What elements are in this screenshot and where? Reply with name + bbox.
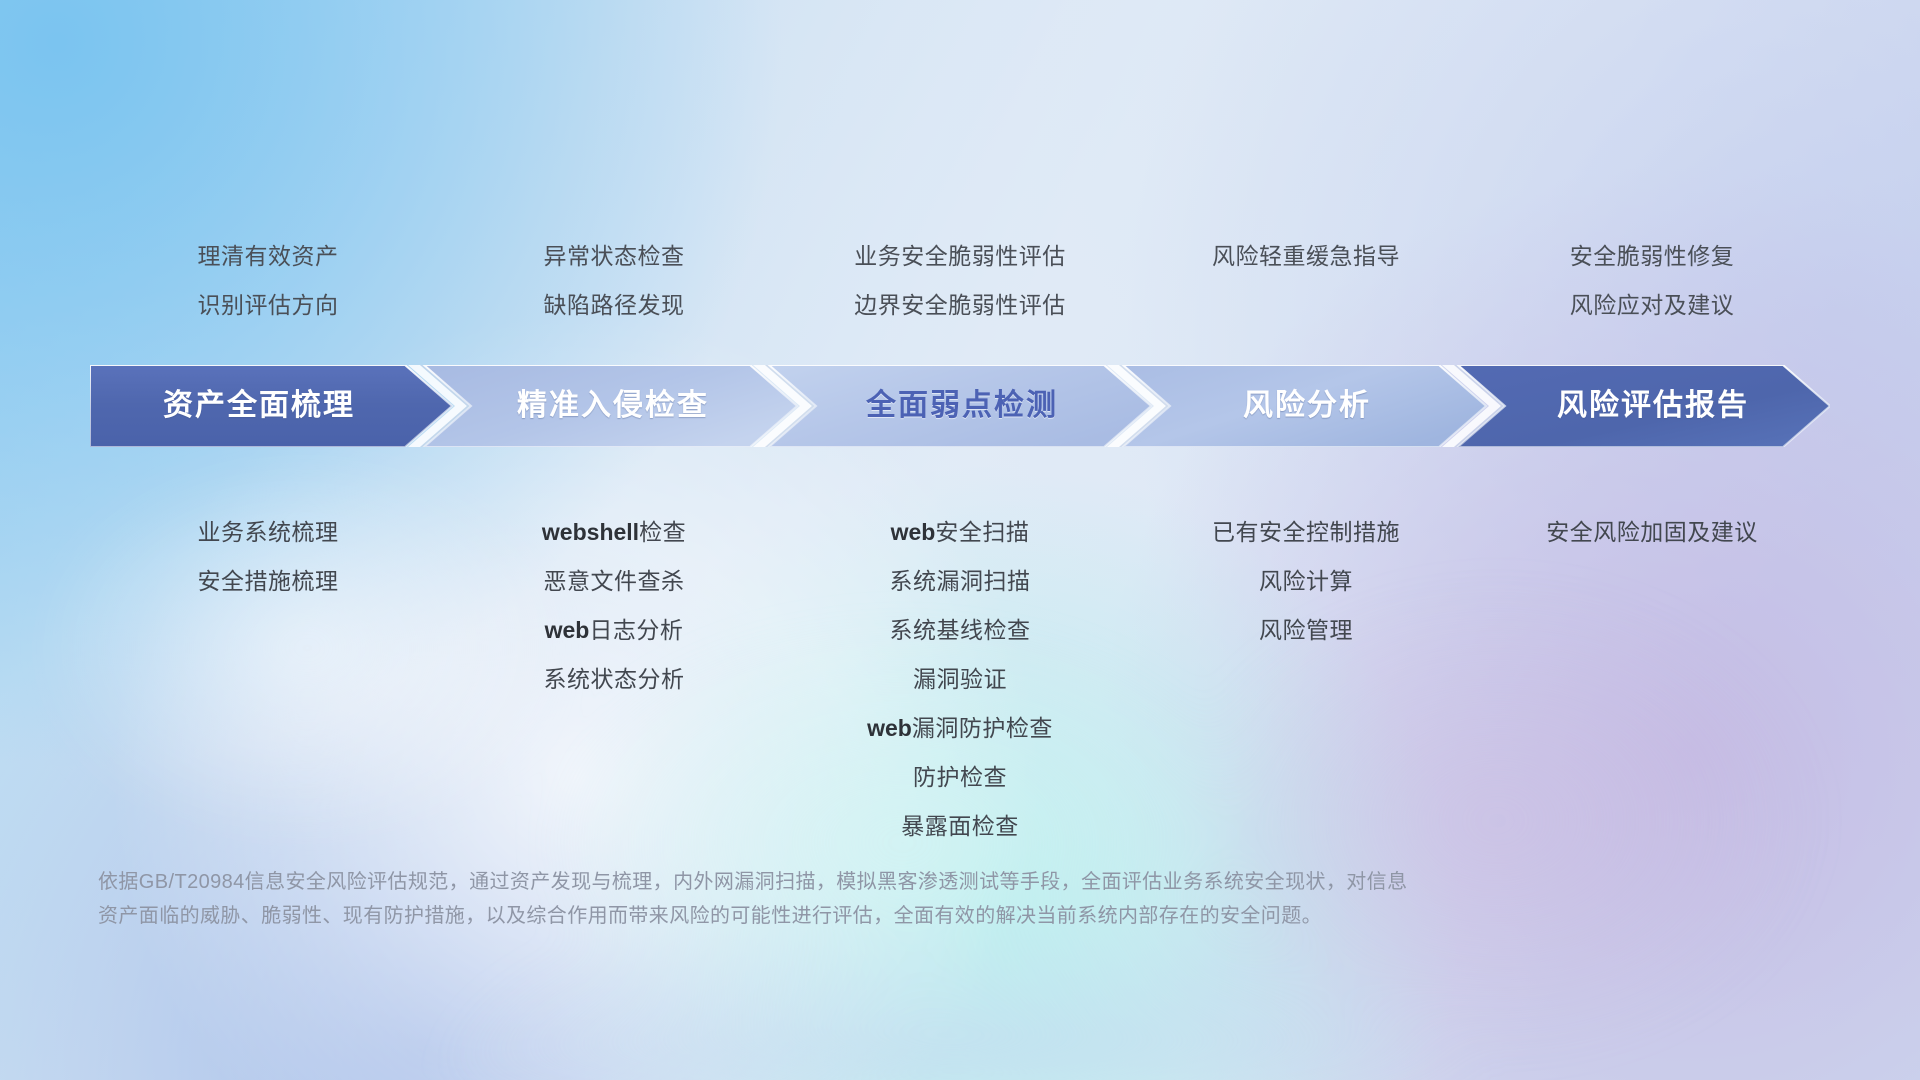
bottom-item-keyword: webshell (542, 519, 639, 545)
top-item: 识别评估方向 (95, 281, 441, 330)
top-column-5: 安全脆弱性修复风险应对及建议 (1479, 232, 1825, 330)
top-item: 安全脆弱性修复 (1479, 232, 1825, 281)
bottom-item: 漏洞验证 (787, 655, 1133, 704)
bottom-list-row: 业务系统梳理安全措施梳理webshell检查恶意文件查杀web日志分析系统状态分… (95, 508, 1825, 851)
footer-line-1: 依据GB/T20984信息安全风险评估规范，通过资产发现与梳理，内外网漏洞扫描，… (98, 865, 1588, 899)
bottom-item: 系统状态分析 (441, 655, 787, 704)
top-item: 风险轻重缓急指导 (1133, 232, 1479, 281)
bottom-item-text: 检查 (639, 519, 686, 545)
bottom-item-keyword: web (867, 715, 912, 741)
bottom-item-text: 安全扫描 (935, 519, 1029, 545)
top-label-row: 理清有效资产识别评估方向异常状态检查缺陷路径发现业务安全脆弱性评估边界安全脆弱性… (95, 232, 1825, 330)
bottom-column-4: 已有安全控制措施风险计算风险管理 (1133, 508, 1479, 851)
bottom-item: 系统漏洞扫描 (787, 557, 1133, 606)
top-item: 边界安全脆弱性评估 (787, 281, 1133, 330)
footer-description: 依据GB/T20984信息安全风险评估规范，通过资产发现与梳理，内外网漏洞扫描，… (98, 865, 1588, 933)
process-arrow-svg (90, 365, 1830, 447)
bottom-item: web日志分析 (441, 606, 787, 655)
bottom-item-text: 漏洞防护检查 (912, 715, 1053, 741)
bottom-item: 风险计算 (1133, 557, 1479, 606)
bottom-item: 系统基线检查 (787, 606, 1133, 655)
bottom-item: 恶意文件查杀 (441, 557, 787, 606)
bottom-item: 安全措施梳理 (95, 557, 441, 606)
bottom-column-5: 安全风险加固及建议 (1479, 508, 1825, 851)
bottom-item: 防护检查 (787, 753, 1133, 802)
bottom-column-3: web安全扫描系统漏洞扫描系统基线检查漏洞验证web漏洞防护检查防护检查暴露面检… (787, 508, 1133, 851)
top-column-2: 异常状态检查缺陷路径发现 (441, 232, 787, 330)
bottom-column-2: webshell检查恶意文件查杀web日志分析系统状态分析 (441, 508, 787, 851)
bottom-item: 暴露面检查 (787, 802, 1133, 851)
footer-line-2: 资产面临的威胁、脆弱性、现有防护措施，以及综合作用而带来风险的可能性进行评估，全… (98, 899, 1588, 933)
process-arrow-band: 资产全面梳理 精准入侵检查 全面弱点检测 风险分析 风险评估报告 (90, 365, 1830, 447)
top-column-3: 业务安全脆弱性评估边界安全脆弱性评估 (787, 232, 1133, 330)
infographic-page: 理清有效资产识别评估方向异常状态检查缺陷路径发现业务安全脆弱性评估边界安全脆弱性… (0, 0, 1920, 1080)
bottom-item: webshell检查 (441, 508, 787, 557)
top-item: 异常状态检查 (441, 232, 787, 281)
bottom-column-1: 业务系统梳理安全措施梳理 (95, 508, 441, 851)
bottom-item: web安全扫描 (787, 508, 1133, 557)
bottom-item-keyword: web (545, 617, 590, 643)
top-item: 缺陷路径发现 (441, 281, 787, 330)
bottom-item: 业务系统梳理 (95, 508, 441, 557)
top-column-1: 理清有效资产识别评估方向 (95, 232, 441, 330)
bottom-item: web漏洞防护检查 (787, 704, 1133, 753)
top-column-4: 风险轻重缓急指导 (1133, 232, 1479, 330)
bottom-item-keyword: web (891, 519, 936, 545)
top-item: 理清有效资产 (95, 232, 441, 281)
top-item: 风险应对及建议 (1479, 281, 1825, 330)
top-item: 业务安全脆弱性评估 (787, 232, 1133, 281)
bottom-item: 风险管理 (1133, 606, 1479, 655)
bottom-item-text: 日志分析 (589, 617, 683, 643)
bottom-item: 安全风险加固及建议 (1479, 508, 1825, 557)
bottom-item: 已有安全控制措施 (1133, 508, 1479, 557)
